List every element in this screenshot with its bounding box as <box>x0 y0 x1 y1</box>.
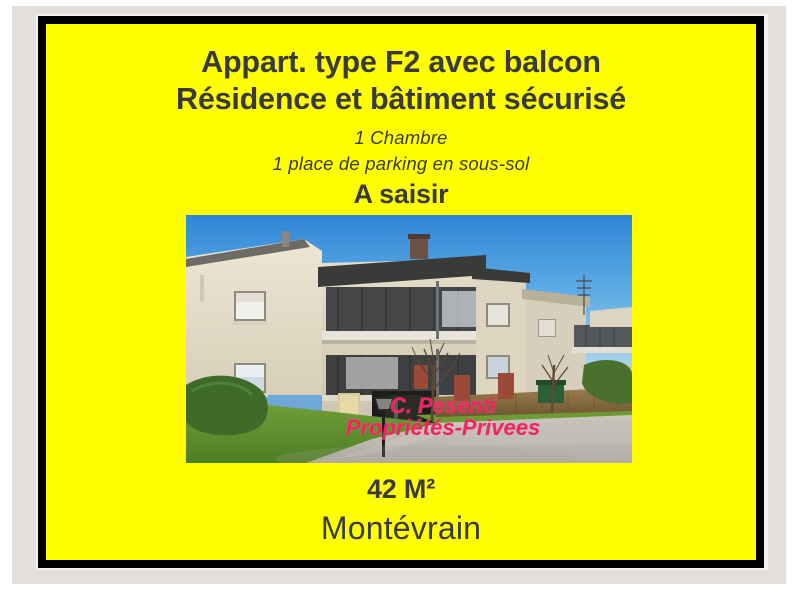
detail-bedrooms: 1 Chambre <box>46 127 756 149</box>
headline-line-2: Résidence et bâtiment sécurisé <box>46 81 756 118</box>
margin-left <box>0 0 12 600</box>
poster-yellow-canvas: Appart. type F2 avec balcon Résidence et… <box>46 24 756 560</box>
detail-parking: 1 place de parking en sous-sol <box>46 153 756 175</box>
surface-area: 42 M² <box>46 474 756 505</box>
property-photo-artwork <box>186 215 632 463</box>
slide-root: Appart. type F2 avec balcon Résidence et… <box>0 0 800 600</box>
poster-black-frame: Appart. type F2 avec balcon Résidence et… <box>38 16 764 568</box>
headline-line-1: Appart. type F2 avec balcon <box>46 44 756 81</box>
city-name: Montévrain <box>46 510 756 547</box>
property-photo <box>186 215 632 463</box>
callout-a-saisir: A saisir <box>46 179 756 210</box>
margin-top <box>0 0 800 6</box>
margin-right <box>786 0 800 600</box>
margin-bottom <box>0 584 800 600</box>
